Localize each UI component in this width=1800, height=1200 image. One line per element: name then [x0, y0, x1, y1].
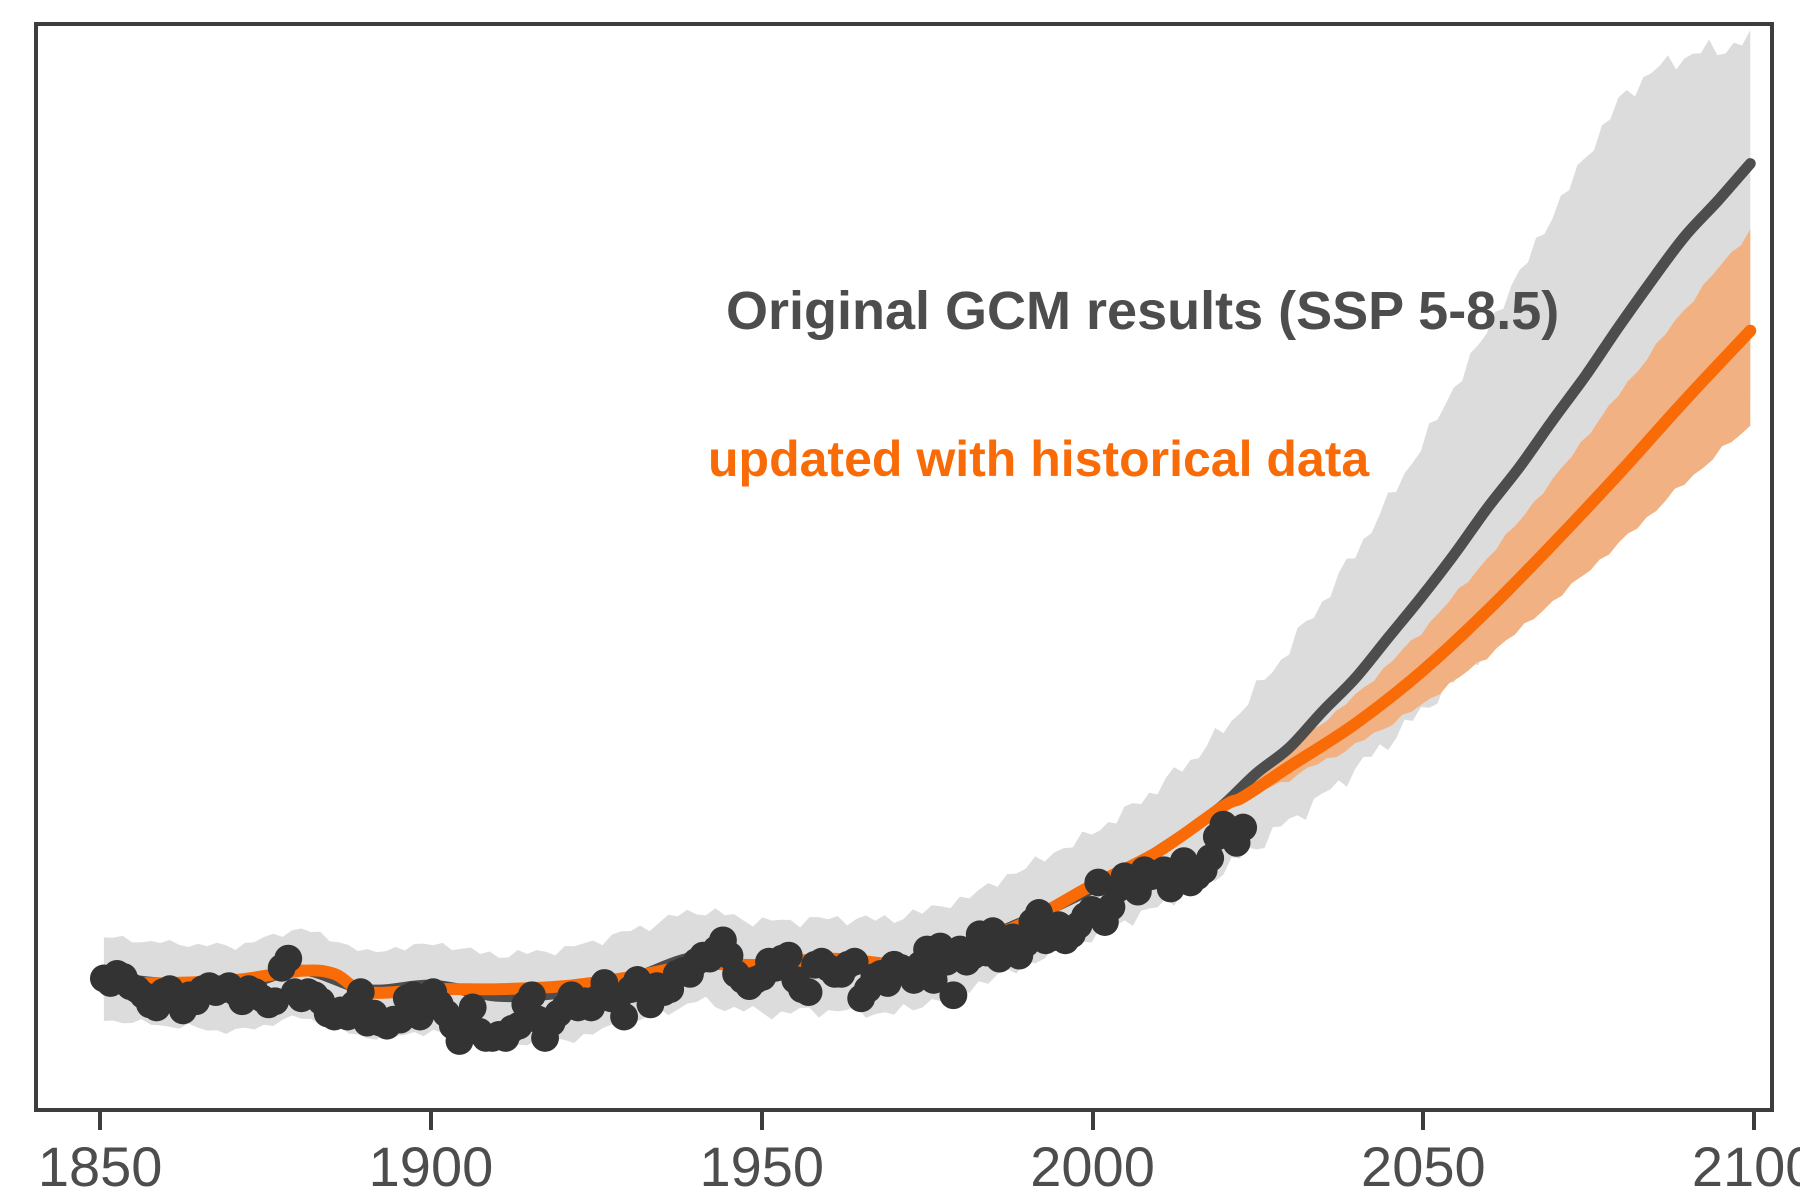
x-tick-label: 1900 [369, 1134, 494, 1199]
gcm-annotation-label: Original GCM results (SSP 5-8.5) [726, 280, 1559, 342]
x-axis: 185019001950200020502100 [34, 1112, 1774, 1200]
plot-area: Original GCM results (SSP 5-8.5) updated… [34, 22, 1774, 1112]
x-tick-mark [98, 1112, 102, 1130]
x-tick-label: 1850 [38, 1134, 163, 1199]
observation-point [775, 942, 803, 970]
observation-point [518, 981, 546, 1009]
observation-point [274, 945, 302, 973]
x-tick-mark [1091, 1112, 1095, 1130]
x-tick-label: 2000 [1030, 1134, 1155, 1199]
observation-point [795, 978, 823, 1006]
figure-canvas: Original GCM results (SSP 5-8.5) updated… [0, 0, 1800, 1200]
x-tick-mark [760, 1112, 764, 1130]
observation-point [459, 994, 487, 1022]
x-tick-label: 2100 [1692, 1134, 1800, 1199]
observation-point [1229, 814, 1257, 842]
observation-point [939, 981, 967, 1009]
chart-svg [38, 26, 1770, 1108]
x-tick-mark [429, 1112, 433, 1130]
x-tick-label: 2050 [1361, 1134, 1486, 1199]
x-tick-label: 1950 [699, 1134, 824, 1199]
x-tick-mark [1752, 1112, 1756, 1130]
updated-annotation-label: updated with historical data [708, 430, 1369, 488]
observation-point [610, 1003, 638, 1031]
x-tick-mark [1421, 1112, 1425, 1130]
